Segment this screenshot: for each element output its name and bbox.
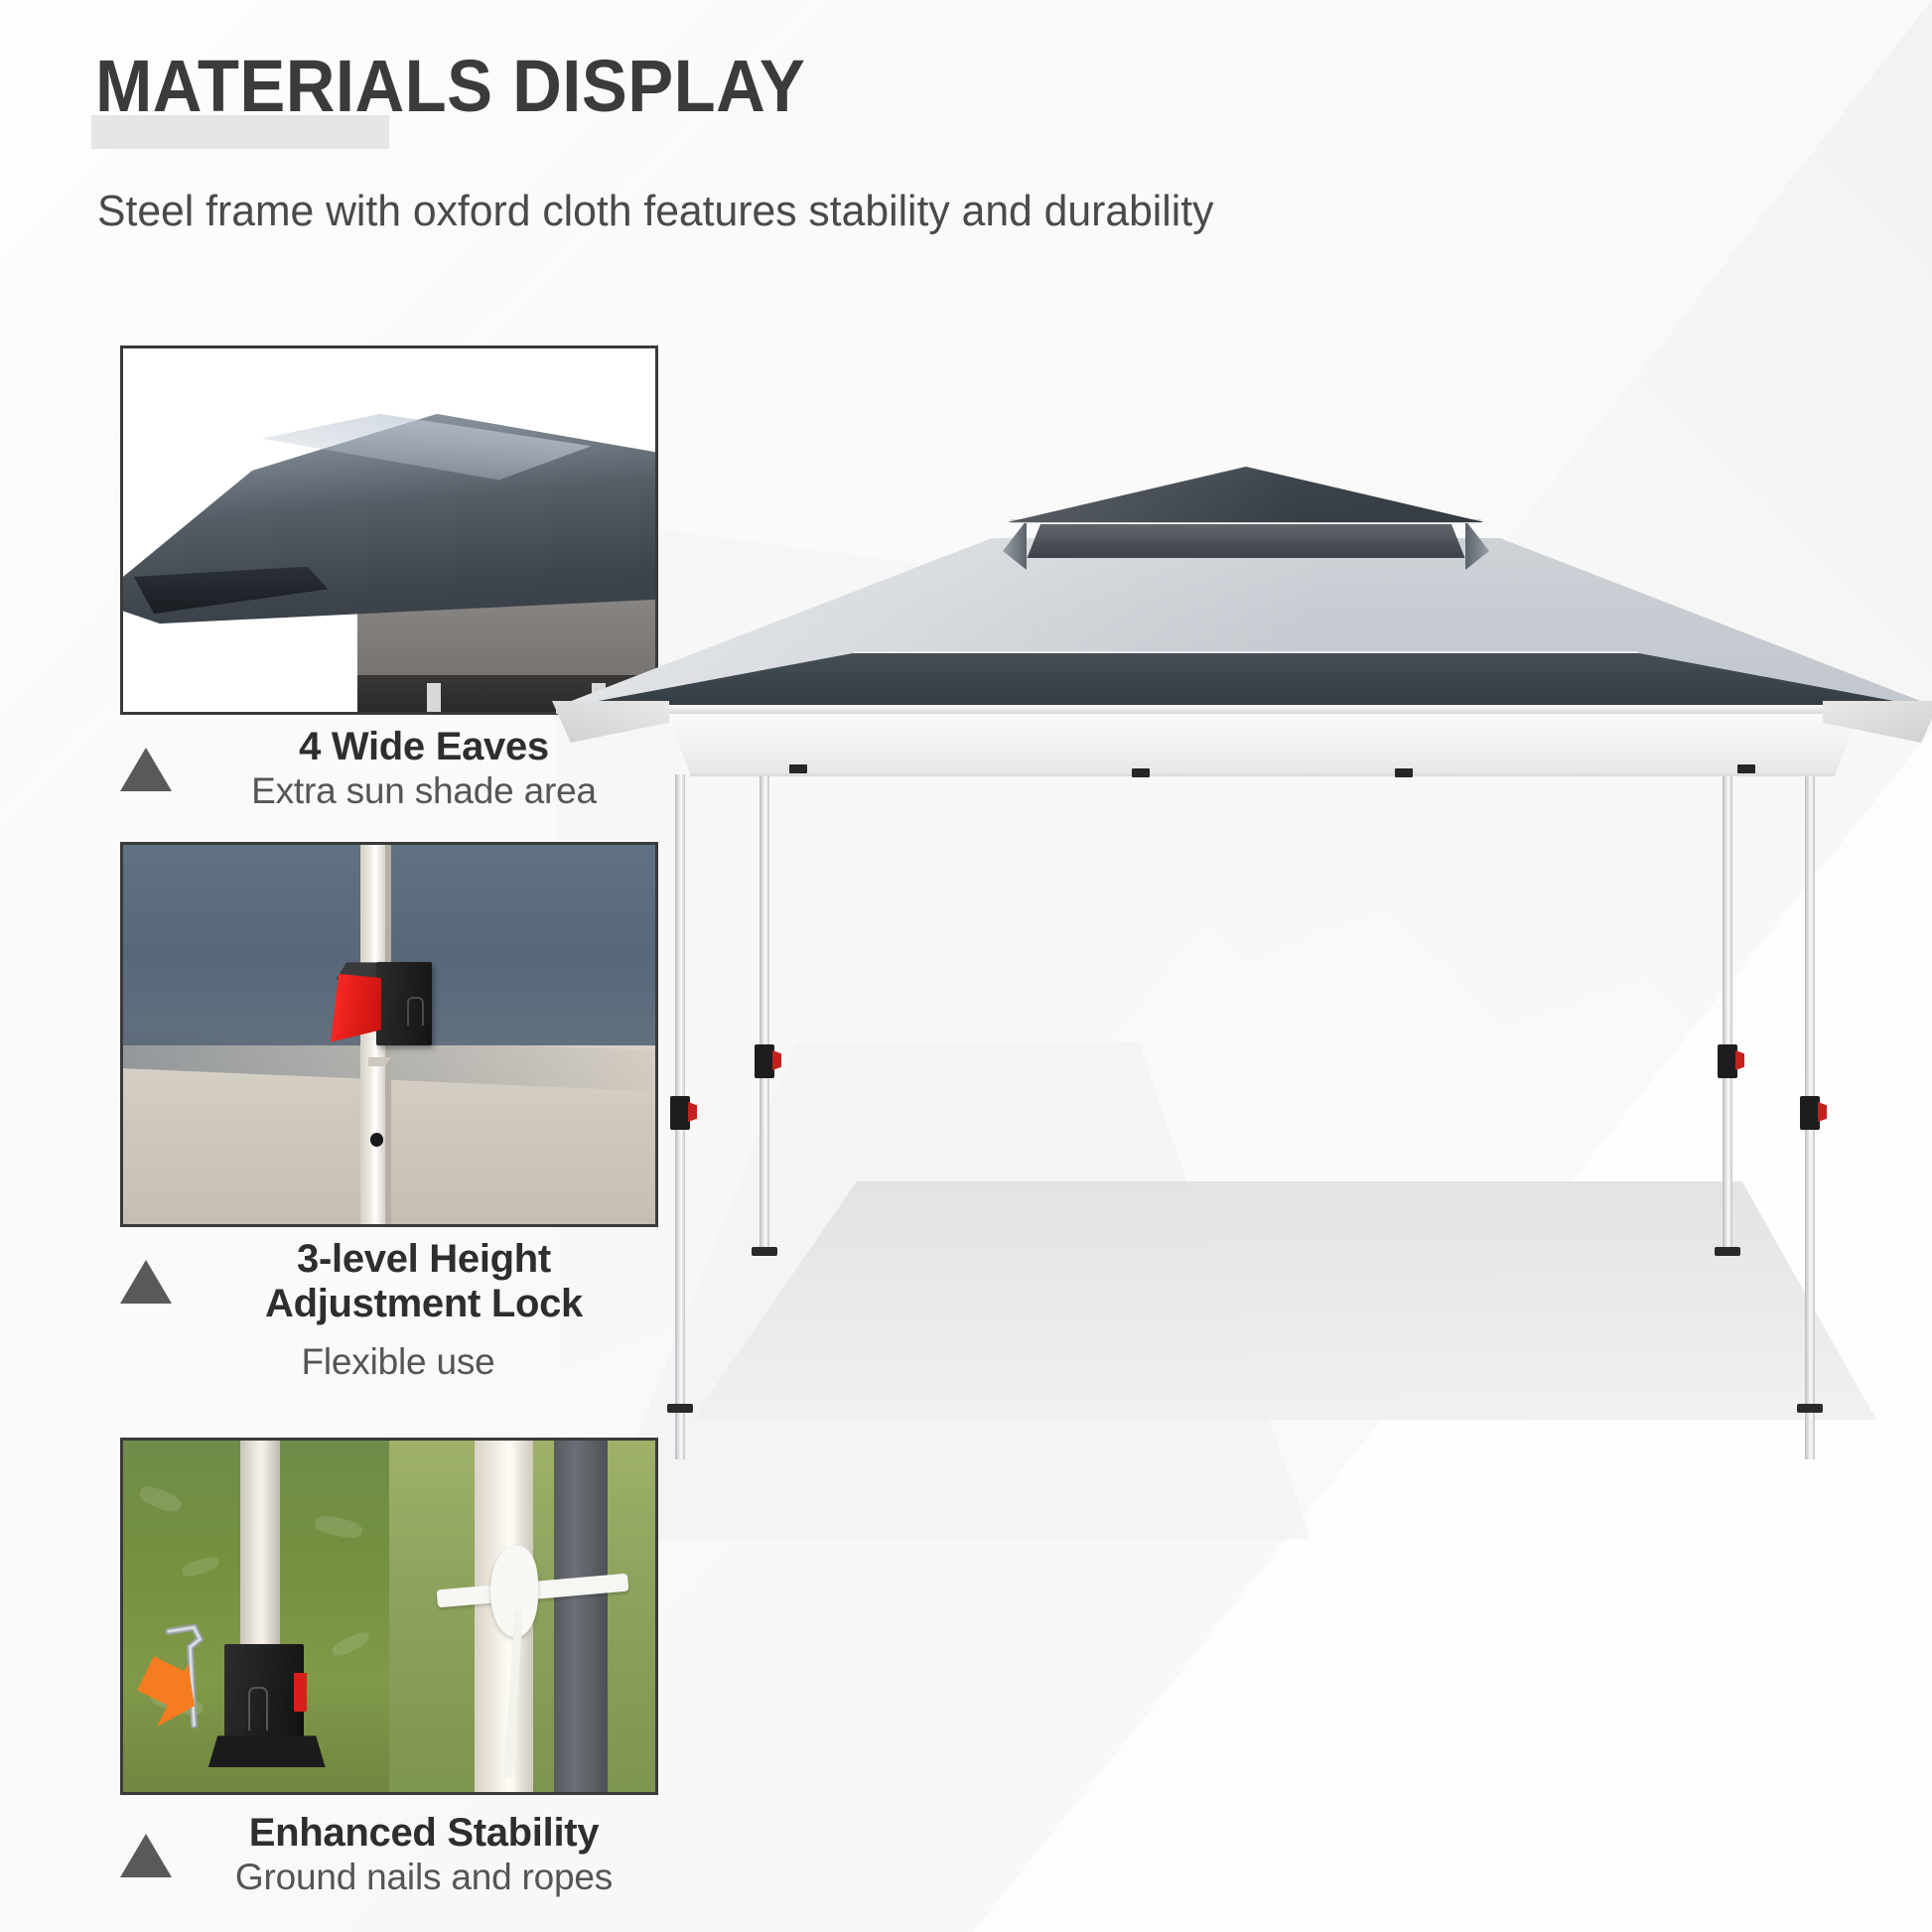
leg-foot-front-left [667,1404,693,1413]
eave-photo-post-left [427,683,441,715]
feature-subtitle-enhanced-stability: Ground nails and ropes [172,1856,676,1899]
ground-shadow [655,1181,1876,1420]
gazebo-vent-cap-highlight [1008,467,1484,522]
leg-foot-front-right [1797,1404,1823,1413]
gazebo-eave-rim [556,705,1932,714]
gazebo-vent-gap [1023,524,1469,558]
gazebo-leg-back-right [1723,774,1732,1251]
leg-lock-back-left [755,1044,774,1078]
grass-blade [137,1482,183,1514]
valance-clip [1132,768,1150,777]
leg-lock-back-right [1718,1044,1737,1078]
grass-blade [330,1629,371,1659]
leg-lock-front-left [670,1096,690,1130]
triangle-up-icon [120,1834,172,1877]
feature-caption-enhanced-stability: Enhanced Stability Ground nails and rope… [120,1811,676,1899]
grass-blade [314,1513,364,1540]
leg-lock-front-right [1800,1096,1820,1130]
triangle-up-icon [120,1260,172,1304]
stability-photo-right [389,1441,655,1792]
lock-photo-pin-hole [370,1133,383,1147]
rope-photo-dark-pole [554,1441,608,1792]
lock-photo-u-emboss [407,997,423,1026]
valance-clip [789,764,807,773]
stability-photo-u-emboss [248,1687,268,1730]
page-subtitle: Steel frame with oxford cloth features s… [97,187,1213,236]
feature-title-enhanced-stability: Enhanced Stability [172,1811,676,1856]
stability-photo-base-plate [208,1735,326,1767]
product-alt-text: Two-tier vented pop-up gazebo with four … [556,467,557,468]
stability-photo-left [123,1441,389,1792]
gazebo-eave-corner-left [552,701,669,743]
gazebo-leg-back-left [759,774,769,1251]
grass-blade [181,1555,220,1580]
leg-foot-back-left [752,1247,777,1256]
valance-clip [1737,764,1755,773]
stability-photo-red-lever [294,1673,307,1712]
feature-image-enhanced-stability [120,1438,658,1795]
valance-clip [1395,768,1413,777]
leg-foot-back-right [1715,1247,1740,1256]
page-title: MATERIALS DISPLAY [95,44,805,128]
triangle-up-icon [120,748,172,791]
product-image-gazebo: Two-tier vented pop-up gazebo with four … [556,467,1932,1459]
